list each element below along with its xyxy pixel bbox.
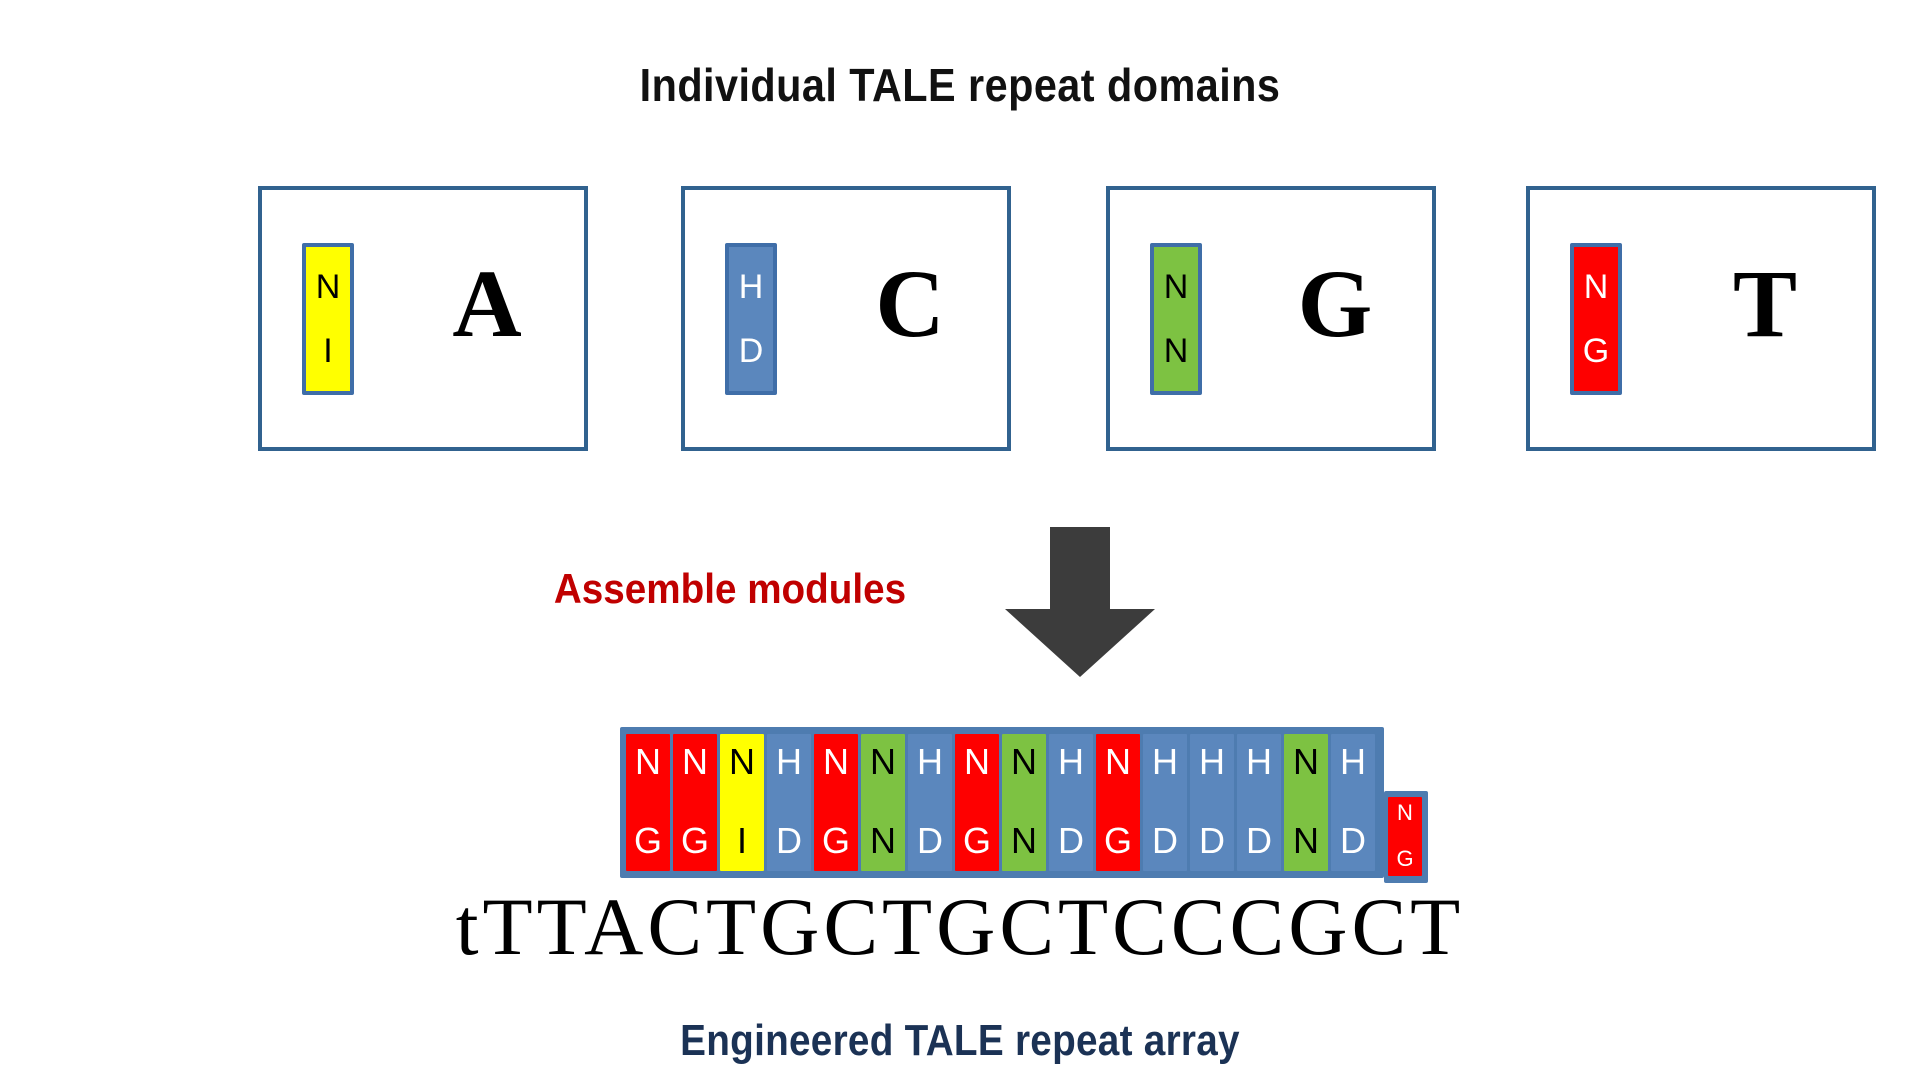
array-chip-top: H: [917, 744, 943, 780]
array-chip-top: N: [870, 744, 896, 780]
rvd-letter-bottom: I: [323, 334, 332, 368]
array-chip-top: H: [1340, 744, 1366, 780]
array-chip-bottom: N: [870, 823, 896, 859]
domain-box-c: H D C: [681, 186, 1011, 451]
array-chip: H D: [1331, 734, 1375, 871]
array-chip-top: N: [1293, 744, 1319, 780]
array-chip-bottom: G: [822, 823, 850, 859]
array-chip: N G: [626, 734, 670, 871]
rvd-letter-top: N: [1164, 270, 1189, 304]
base-letter-c: C: [835, 248, 985, 359]
array-chip-top: N: [1011, 744, 1037, 780]
array-chip-top: H: [1152, 744, 1178, 780]
domain-box-row: N I A H D C N N G N G T: [258, 186, 1678, 454]
array-chip-bottom: G: [634, 823, 662, 859]
down-arrow-icon: [1005, 527, 1165, 677]
array-chip: N G: [814, 734, 858, 871]
half-repeat-chip: N G: [1388, 797, 1422, 876]
array-chip: H D: [1143, 734, 1187, 871]
rvd-module-hd: H D: [725, 243, 777, 395]
array-chip: H D: [908, 734, 952, 871]
rvd-letter-top: N: [1584, 270, 1609, 304]
base-letter-t: T: [1690, 248, 1840, 359]
array-chip-bottom: D: [1199, 823, 1225, 859]
array-chip-bottom: N: [1011, 823, 1037, 859]
array-chip-bottom: G: [963, 823, 991, 859]
array-chip: N N: [1002, 734, 1046, 871]
domain-box-t: N G T: [1526, 186, 1876, 451]
rvd-letter-bottom: D: [739, 334, 764, 368]
array-chip: H D: [1237, 734, 1281, 871]
repeat-array-wrapper: N G N G N I H D N G N N H D N G: [620, 727, 1384, 878]
array-chip-top: H: [1246, 744, 1272, 780]
array-chip-bottom: D: [776, 823, 802, 859]
page-title: Individual TALE repeat domains: [96, 58, 1824, 112]
assemble-modules-label: Assemble modules: [509, 565, 951, 613]
array-chip: N N: [1284, 734, 1328, 871]
array-chip-bottom: G: [1104, 823, 1132, 859]
array-chip: H D: [1190, 734, 1234, 871]
array-chip-top: N: [823, 744, 849, 780]
domain-box-g: N N G: [1106, 186, 1436, 451]
array-chip: N G: [673, 734, 717, 871]
array-chip-top: H: [1058, 744, 1084, 780]
domain-box-a: N I A: [258, 186, 588, 451]
base-letter-a: A: [412, 248, 562, 359]
dna-sequence: tTTACTGCTGCTCCCGCT: [0, 880, 1920, 974]
array-chip-bottom: D: [1246, 823, 1272, 859]
rvd-module-ng: N G: [1570, 243, 1622, 395]
repeat-array: N G N G N I H D N G N N H D N G: [620, 727, 1384, 878]
array-chip-bottom: G: [1396, 848, 1413, 870]
array-chip-bottom: I: [737, 823, 747, 859]
base-letter-g: G: [1260, 248, 1410, 359]
rvd-letter-bottom: N: [1164, 334, 1189, 368]
array-chip-bottom: D: [1058, 823, 1084, 859]
array-chip-top: N: [1105, 744, 1131, 780]
array-chip-top: N: [1397, 802, 1413, 824]
array-chip-top: N: [635, 744, 661, 780]
rvd-letter-top: H: [739, 270, 764, 304]
array-chip: N G: [1096, 734, 1140, 871]
array-chip: N I: [720, 734, 764, 871]
array-chip-bottom: D: [1340, 823, 1366, 859]
array-chip-bottom: D: [917, 823, 943, 859]
array-chip-top: H: [776, 744, 802, 780]
array-chip: H D: [767, 734, 811, 871]
array-chip: N N: [861, 734, 905, 871]
rvd-module-nn: N N: [1150, 243, 1202, 395]
array-chip-top: H: [1199, 744, 1225, 780]
rvd-module-ni: N I: [302, 243, 354, 395]
rvd-letter-top: N: [316, 270, 341, 304]
array-chip-bottom: N: [1293, 823, 1319, 859]
array-chip-bottom: G: [681, 823, 709, 859]
array-chip: N G: [955, 734, 999, 871]
figure-caption: Engineered TALE repeat array: [115, 1016, 1805, 1066]
array-chip-top: N: [729, 744, 755, 780]
array-chip: H D: [1049, 734, 1093, 871]
array-chip-top: N: [964, 744, 990, 780]
half-repeat-wrapper: N G: [1384, 791, 1428, 883]
array-chip-top: N: [682, 744, 708, 780]
array-chip-bottom: D: [1152, 823, 1178, 859]
rvd-letter-bottom: G: [1583, 334, 1609, 368]
